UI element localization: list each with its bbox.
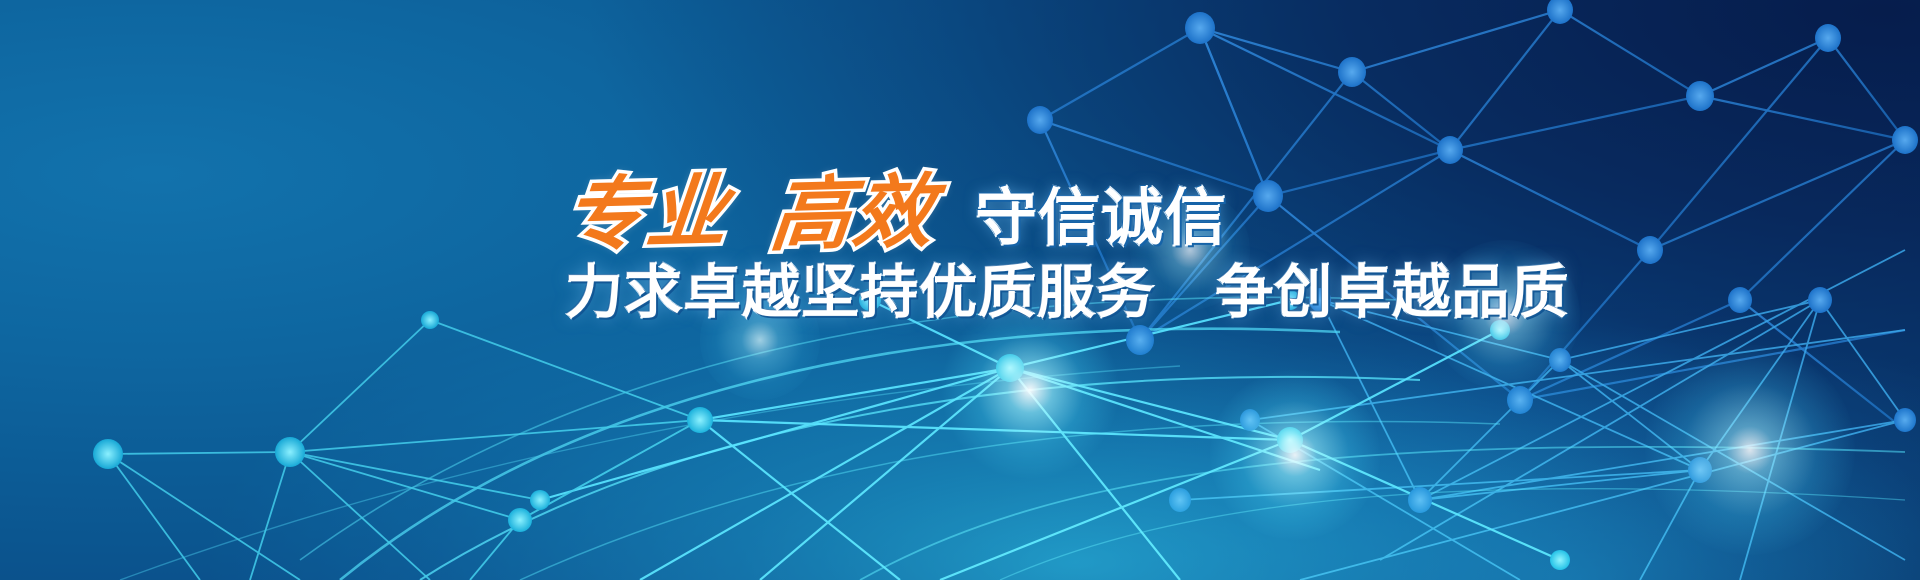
- hero-banner: 专业 高效 守信诚信 力求卓越坚持优质服务 争创卓越品质: [0, 0, 1920, 580]
- headline-accent-first: 专业: [561, 172, 733, 256]
- headline-accent-second: 高效: [767, 172, 939, 256]
- headline-row: 专业 高效 守信诚信: [565, 150, 1565, 254]
- subline-left: 力求卓越坚持优质服务: [565, 260, 1155, 325]
- headline-white-third: 守信诚信: [975, 188, 1227, 250]
- subline-row: 力求卓越坚持优质服务 争创卓越品质: [565, 264, 1565, 322]
- subline-right: 争创卓越品质: [1215, 260, 1569, 325]
- slogan-block: 专业 高效 守信诚信 力求卓越坚持优质服务 争创卓越品质: [565, 150, 1565, 322]
